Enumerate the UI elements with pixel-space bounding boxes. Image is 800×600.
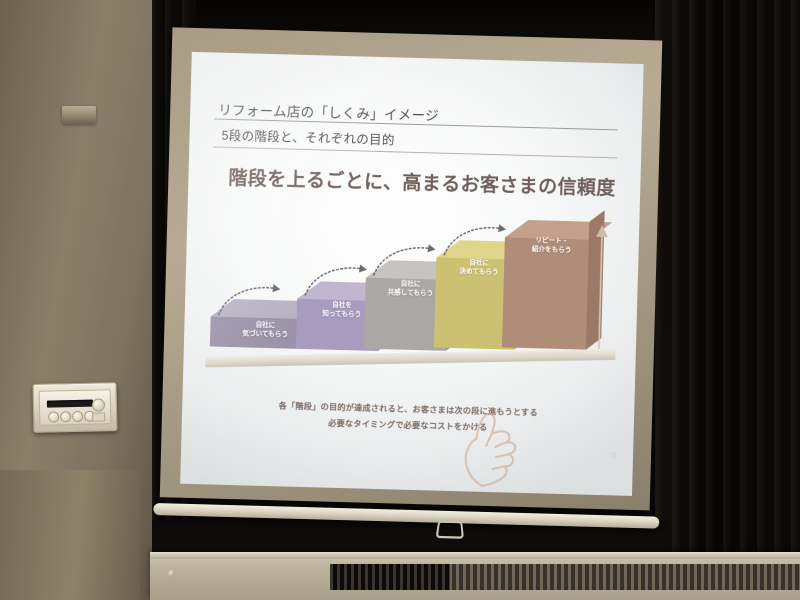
slide-subtitle: 5段の階段と、それぞれの目的 (221, 125, 395, 149)
slide-note: 各「階段」の目的が達成されると、お客さまは次の段に進もうとする 必要なタイミング… (208, 396, 609, 440)
control-button-2[interactable] (60, 411, 71, 422)
wall-left-column (0, 470, 140, 600)
wall-control-panel[interactable] (32, 382, 117, 433)
trust-up-arrow (590, 223, 611, 351)
hvac-top-edge (150, 552, 800, 559)
stairs-diagram: 自社に 気づいてもらう 自社を 知ってもらう (183, 202, 640, 404)
hvac-unit (150, 552, 800, 600)
control-button-1[interactable] (48, 411, 59, 422)
subtitle-rule (213, 146, 617, 158)
slide: リフォーム店の「しくみ」イメージ 5段の階段と、それぞれの目的 階段を上るごとに… (180, 52, 644, 496)
projection-screen: リフォーム店の「しくみ」イメージ 5段の階段と、それぞれの目的 階段を上るごとに… (159, 13, 672, 526)
slide-headline: 階段を上るごとに、高まるお客さまの信頼度 (228, 163, 609, 200)
control-panel-display (47, 400, 93, 408)
control-knob[interactable] (92, 398, 105, 411)
room-photo-scene: リフォーム店の「しくみ」イメージ 5段の階段と、それぞれの目的 階段を上るごとに… (0, 0, 800, 600)
hvac-screw (168, 570, 175, 577)
screen-border: リフォーム店の「しくみ」イメージ 5段の階段と、それぞれの目的 階段を上るごとに… (160, 27, 663, 510)
wall-fixture (62, 106, 96, 124)
curtain-right (655, 0, 800, 552)
screen-surface: リフォーム店の「しくみ」イメージ 5段の階段と、それぞれの目的 階段を上るごとに… (180, 52, 644, 496)
control-panel-label (40, 390, 110, 391)
control-switch[interactable] (92, 412, 105, 421)
slide-page-number: 21 (610, 453, 617, 459)
pointing-hand-watermark (452, 407, 528, 489)
step-arrows (183, 202, 640, 404)
screen-pull-ring[interactable] (435, 521, 464, 539)
control-panel-face (39, 389, 112, 426)
hvac-vent-grille-shadowed (330, 564, 450, 590)
control-button-3[interactable] (72, 411, 83, 422)
